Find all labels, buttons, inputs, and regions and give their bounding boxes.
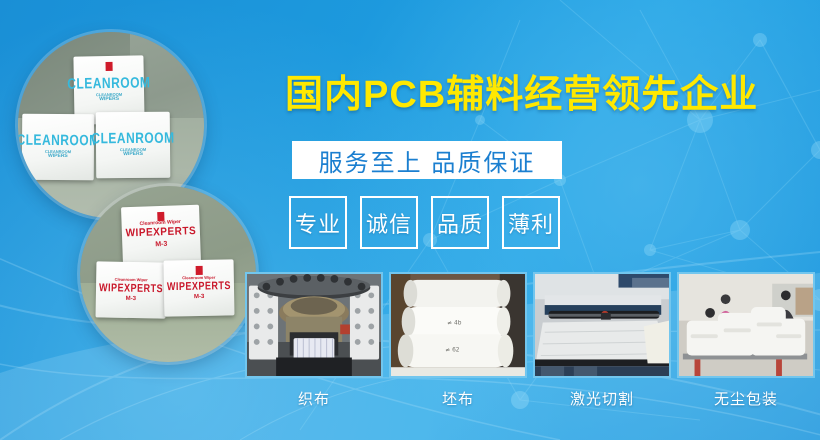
keyword-box-pinzhi: 品质 (431, 196, 489, 249)
thumbnail-cell-laser-cutting[interactable]: 激光切割 (533, 272, 671, 409)
wipexperts-pack: Cleanroom Wiper WIPEXPERTS M-3 (96, 261, 167, 318)
keyword-label: 专业 (295, 207, 341, 239)
thumbnail-caption: 激光切割 (533, 388, 671, 409)
svg-text:≠ 62: ≠ 62 (445, 348, 459, 354)
thumbnail-image-weaving[interactable] (245, 272, 383, 378)
keyword-label: 品质 (437, 207, 483, 239)
headline-text: 国内PCB辅料经营领先企业 (285, 76, 785, 114)
keyword-box-baoli: 薄利 (502, 196, 560, 249)
thumbnail-image-cleanroom-packing[interactable] (677, 272, 815, 378)
thumbnail-cell-cleanroom-packing[interactable]: 无尘包装 (677, 272, 815, 409)
promo-banner: CLEANROOM CLEANROOM WIPERS CLEANROOM CLE… (0, 0, 820, 440)
keyword-box-zhuanye: 专业 (289, 196, 347, 249)
knitting-machine-photo-icon (247, 274, 381, 377)
svg-text:≠ 4b: ≠ 4b (447, 320, 461, 326)
stamp-icon (196, 266, 203, 275)
thumbnail-caption: 坯布 (389, 388, 527, 409)
thumbnail-caption: 无尘包装 (677, 388, 815, 409)
keyword-label: 诚信 (366, 207, 412, 239)
thumbnail-cell-weaving[interactable]: 织布 (245, 272, 383, 409)
wipexperts-pack: Cleanroom Wiper WIPEXPERTS M-3 (164, 259, 235, 316)
laser-cutting-machine-photo-icon (535, 274, 669, 377)
product-photo-wipexperts: Cleanroom Wiper WIPEXPERTS M-3 Cleanroom… (80, 186, 256, 362)
wipexperts-pack: Cleanroom Wiper WIPEXPERTS M-3 (121, 205, 201, 266)
keyword-box-chengxin: 诚信 (360, 196, 418, 249)
cleanroom-packing-photo-icon (679, 274, 813, 377)
thumbnail-image-laser-cutting[interactable] (533, 272, 671, 378)
thumbnail-caption: 织布 (245, 388, 383, 409)
thumbnail-cell-greige-fabric[interactable]: ≠ 4b ≠ 62 坯布 (389, 272, 527, 409)
process-thumbnail-row: 织布 (245, 272, 815, 409)
slogan-text: 服务至上 品质保证 (319, 143, 536, 178)
fabric-rolls-photo-icon: ≠ 4b ≠ 62 (391, 274, 525, 377)
thumbnail-image-greige-fabric[interactable]: ≠ 4b ≠ 62 (389, 272, 527, 378)
wipes-pack: CLEANROOM CLEANROOM WIPERS (22, 114, 95, 181)
keyword-row: 专业 诚信 品质 薄利 (289, 196, 560, 249)
wipes-pack: CLEANROOM CLEANROOM WIPERS (96, 112, 171, 179)
stamp-icon (106, 62, 113, 71)
keyword-label: 薄利 (508, 207, 554, 239)
slogan-band: 服务至上 品质保证 (292, 141, 562, 179)
